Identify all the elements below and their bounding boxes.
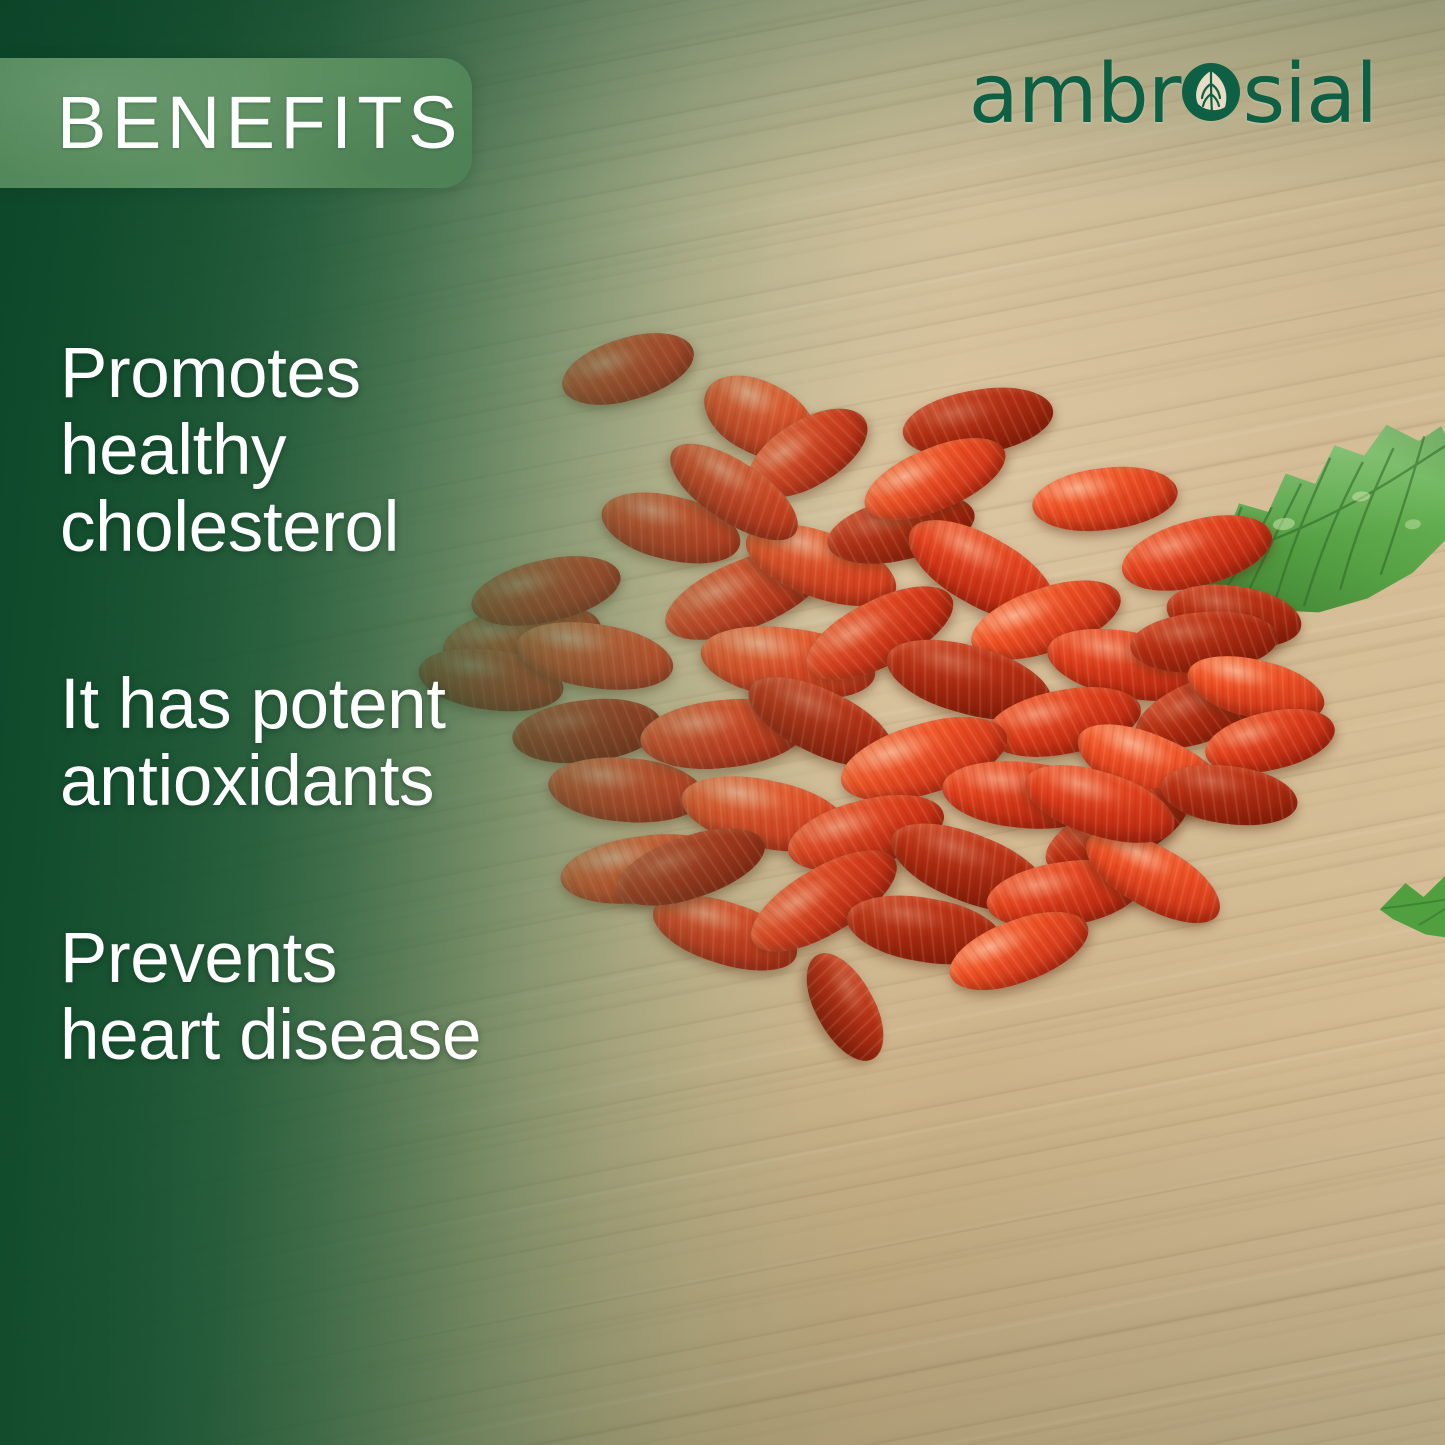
benefit-line: antioxidants xyxy=(60,743,680,820)
benefit-item-cholesterol: Promotes healthy cholesterol xyxy=(60,335,680,566)
benefit-line: healthy xyxy=(60,412,680,489)
brand-logo-text-suffix: sial xyxy=(1242,54,1377,136)
benefit-line: It has potent xyxy=(60,666,680,743)
brand-logo: ambr sial xyxy=(969,58,1377,132)
benefits-poster: BENEFITS ambr sial xyxy=(0,0,1445,1445)
benefit-line: Promotes xyxy=(60,335,680,412)
benefit-line: heart disease xyxy=(60,997,680,1074)
benefit-line: Prevents xyxy=(60,920,680,997)
benefits-banner-label: BENEFITS xyxy=(57,86,463,160)
leaf-circle-icon xyxy=(1181,54,1241,114)
benefit-line: cholesterol xyxy=(60,489,680,566)
brand-logo-text-prefix: ambr xyxy=(969,54,1181,136)
benefits-list: Promotes healthy cholesterol It has pote… xyxy=(60,335,680,1074)
brand-logo-wordmark: ambr sial xyxy=(969,54,1377,136)
benefit-item-antioxidants: It has potent antioxidants xyxy=(60,666,680,820)
benefit-item-heart-disease: Prevents heart disease xyxy=(60,920,680,1074)
benefits-banner: BENEFITS xyxy=(0,58,472,188)
